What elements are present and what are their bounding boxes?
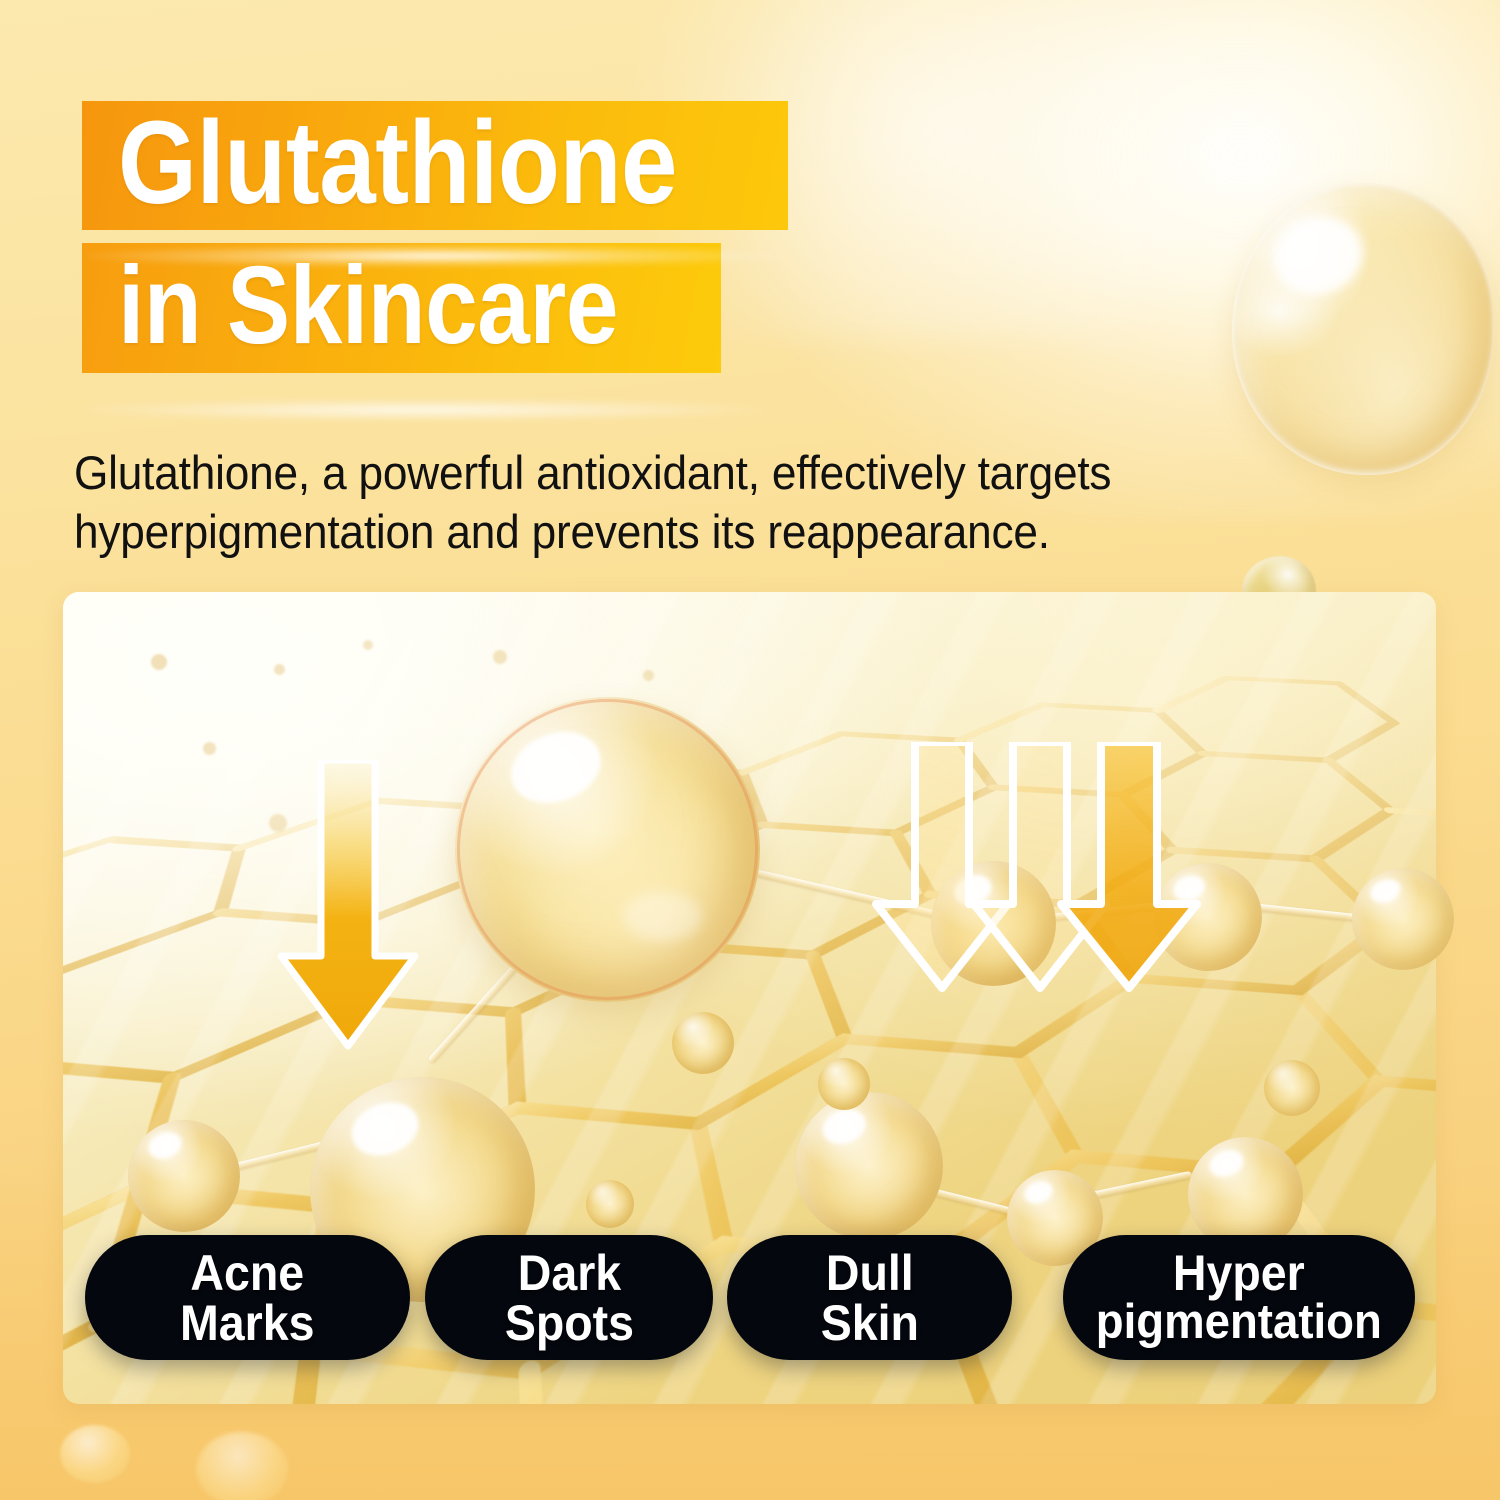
pill-line-2: Marks: [180, 1298, 314, 1348]
sphere-highlight: [817, 1103, 870, 1149]
pill-label: Hyper pigmentation: [1085, 1248, 1393, 1347]
pill-label: Dull Skin: [817, 1248, 923, 1348]
pill-label: Dark Spots: [500, 1248, 639, 1348]
sphere-highlight: [1367, 876, 1403, 908]
molecule-sphere-10: [672, 1012, 734, 1074]
banner-shine-1: [86, 245, 786, 267]
subtitle: Glutathione, a powerful antioxidant, eff…: [74, 443, 1304, 561]
title-line-2-text: in Skincare: [118, 253, 618, 359]
pill-line-2: Skin: [820, 1298, 918, 1348]
molecule-sphere-12: [586, 1180, 634, 1228]
molecule-sphere-11: [818, 1058, 870, 1110]
title-banner-line-1: Glutathione: [82, 101, 788, 230]
pill-line-2: Spots: [504, 1298, 633, 1348]
banner-shine-2: [86, 400, 786, 420]
molecule-sphere-8: [128, 1120, 240, 1232]
subtitle-line-2: hyperpigmentation and prevents its reapp…: [74, 502, 1230, 561]
hero-oil-droplet: [1232, 183, 1494, 475]
down-arrow-1: [277, 760, 419, 1050]
infographic-canvas: Glutathione in Skincare Glutathione, a p…: [0, 0, 1500, 1500]
title-line-1-text: Glutathione: [118, 107, 677, 220]
pill-line-1: Dark: [504, 1248, 633, 1298]
molecule-sphere-5: [795, 1092, 943, 1240]
pill-line-1: Dull: [820, 1248, 918, 1298]
pill-line-1: Hyper: [1096, 1248, 1382, 1298]
pill-label: Acne Marks: [175, 1248, 320, 1348]
benefit-pill-acne-marks[interactable]: Acne Marks: [85, 1235, 410, 1360]
pill-line-1: Acne: [180, 1248, 314, 1298]
sphere-highlight: [1022, 1177, 1056, 1207]
sphere-highlight: [344, 1094, 424, 1164]
sphere-rim-ring: [457, 699, 758, 1000]
pill-line-2: pigmentation: [1096, 1298, 1382, 1347]
benefit-pill-hyperpigmentation[interactable]: Hyper pigmentation: [1063, 1235, 1415, 1360]
sphere-highlight: [145, 1128, 185, 1163]
page-title: Glutathione in Skincare: [82, 101, 788, 373]
benefit-pill-dull-skin[interactable]: Dull Skin: [727, 1235, 1012, 1360]
molecule-sphere-13: [1264, 1060, 1320, 1116]
sphere-highlight: [1205, 1146, 1246, 1182]
down-arrow-4: [1055, 742, 1203, 992]
molecule-sphere-main: [455, 697, 760, 1002]
benefit-pill-dark-spots[interactable]: Dark Spots: [425, 1235, 713, 1360]
droplet-rim: [1232, 183, 1494, 475]
molecule-sphere-4: [1352, 868, 1454, 970]
subtitle-line-1: Glutathione, a powerful antioxidant, eff…: [74, 443, 1230, 502]
